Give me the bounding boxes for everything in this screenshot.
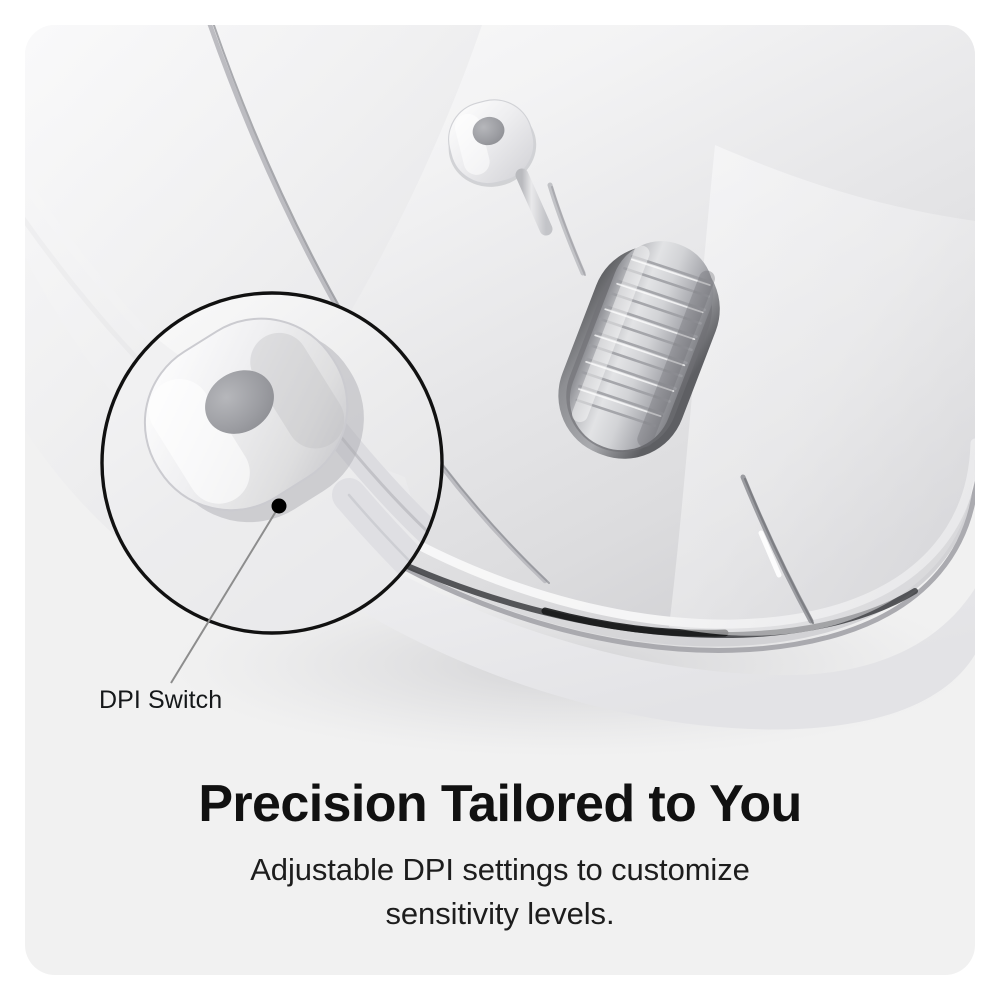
page-title: Precision Tailored to You xyxy=(0,778,1000,830)
callout-marker-dot xyxy=(272,499,287,514)
right-button xyxy=(669,145,975,636)
page-subtitle-line-1: Adjustable DPI settings to customize xyxy=(0,848,1000,892)
product-feature-image: DPI Switch Precision Tailored to You Adj… xyxy=(0,0,1000,1000)
page-subtitle-line-2: sensitivity levels. xyxy=(0,892,1000,936)
callout-label-dpi-switch: DPI Switch xyxy=(99,686,222,715)
page-subtitle: Adjustable DPI settings to customize sen… xyxy=(0,848,1000,936)
